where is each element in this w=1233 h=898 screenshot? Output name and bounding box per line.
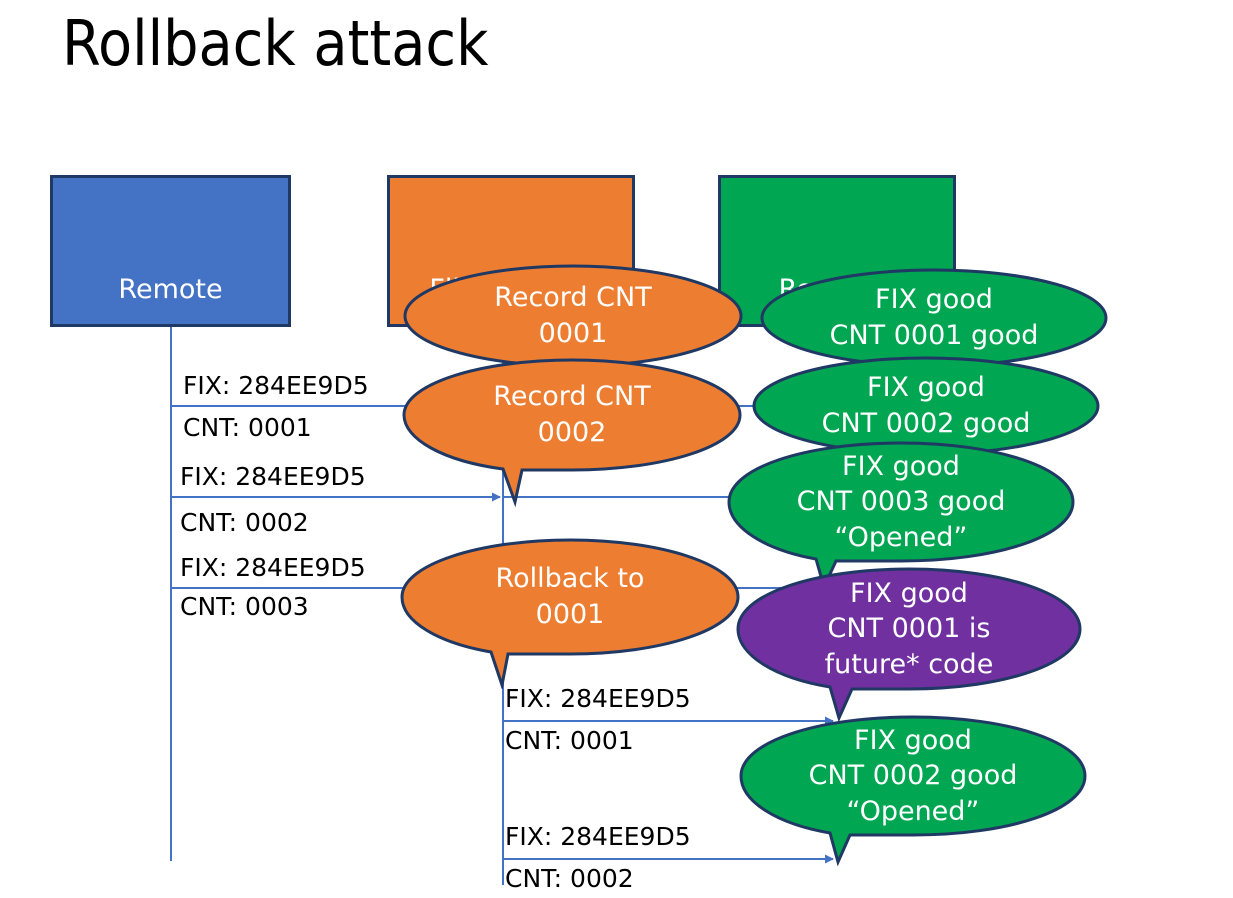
callout-rollback-0001[interactable]: Rollback to 0001 bbox=[398, 537, 742, 689]
callout-ok-0002-opened[interactable]: FIX good CNT 0002 good “Opened” bbox=[738, 714, 1088, 866]
callout-ok-0001[interactable]: FIX good CNT 0001 good bbox=[760, 268, 1108, 368]
callout-record-0002[interactable]: Record CNT 0002 bbox=[400, 357, 744, 507]
message-label-cnt-4: CNT: 0001 bbox=[505, 726, 634, 755]
message-label-fix-3: FIX: 284EE9D5 bbox=[180, 553, 366, 582]
message-label-cnt-2: CNT: 0002 bbox=[180, 508, 309, 537]
callout-shape bbox=[738, 714, 1088, 866]
slide-canvas: Rollback attack Remote Flipper Zero Rece… bbox=[0, 0, 1233, 898]
message-label-cnt-1: CNT: 0001 bbox=[183, 413, 312, 442]
callout-shape bbox=[760, 268, 1108, 368]
callout-shape bbox=[403, 264, 743, 368]
message-label-fix-1: FIX: 284EE9D5 bbox=[183, 371, 369, 400]
lane-header-remote[interactable]: Remote bbox=[50, 175, 291, 327]
callout-shape bbox=[400, 357, 744, 507]
message-label-fix-5: FIX: 284EE9D5 bbox=[505, 822, 691, 851]
callout-shape bbox=[735, 566, 1083, 722]
callout-record-0001[interactable]: Record CNT 0001 bbox=[403, 264, 743, 368]
message-label-cnt-3: CNT: 0003 bbox=[180, 592, 309, 621]
callout-shape bbox=[398, 537, 742, 689]
message-label-fix-2: FIX: 284EE9D5 bbox=[180, 462, 366, 491]
message-label-fix-4: FIX: 284EE9D5 bbox=[505, 684, 691, 713]
lane-label-remote: Remote bbox=[53, 274, 288, 305]
callout-future-code-alert[interactable]: FIX good CNT 0001 is future* code bbox=[735, 566, 1083, 722]
message-label-cnt-5: CNT: 0002 bbox=[505, 864, 634, 893]
